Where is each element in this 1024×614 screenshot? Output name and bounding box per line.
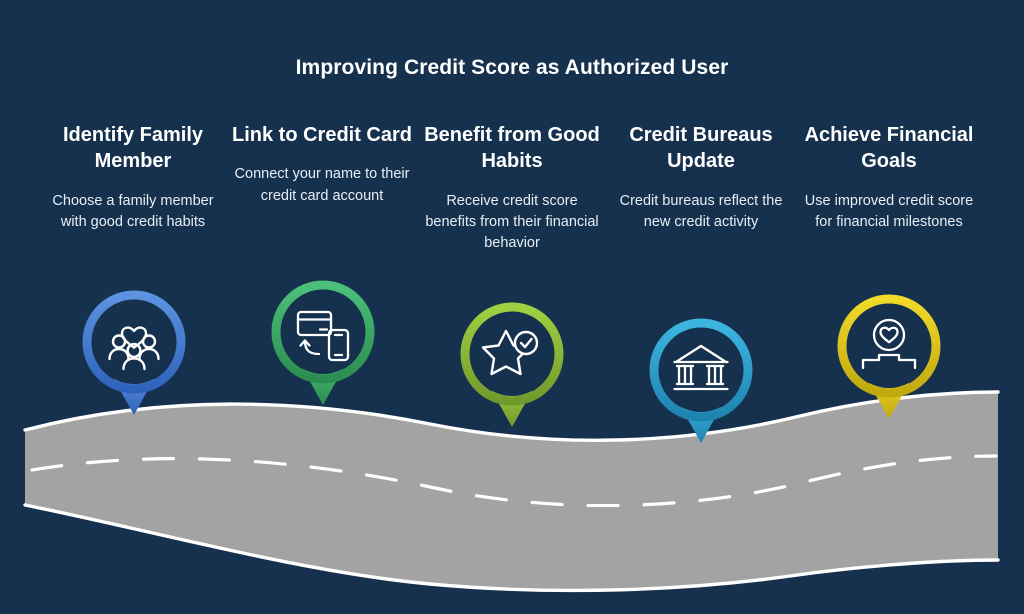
step-pin-2[interactable] (267, 276, 379, 416)
step-column-5: Achieve Financial Goals Use improved cre… (791, 122, 987, 233)
step-heading-3: Benefit from Good Habits (414, 122, 610, 175)
step-pin-5[interactable] (833, 290, 945, 430)
step-heading-1: Identify Family Member (35, 122, 231, 175)
step-column-2: Link to Credit Card Connect your name to… (224, 122, 420, 207)
step-pin-3[interactable] (456, 298, 568, 438)
step-body-1: Choose a family member with good credit … (35, 191, 231, 233)
step-column-1: Identify Family Member Choose a family m… (35, 122, 231, 233)
step-body-2: Connect your name to their credit card a… (224, 164, 420, 206)
step-column-4: Credit Bureaus Update Credit bureaus ref… (603, 122, 799, 233)
step-body-3: Receive credit score benefits from their… (414, 191, 610, 254)
step-heading-4: Credit Bureaus Update (603, 122, 799, 175)
step-body-4: Credit bureaus reflect the new credit ac… (603, 191, 799, 233)
step-pin-4[interactable] (645, 314, 757, 454)
infographic-canvas: Improving Credit Score as Authorized Use… (0, 0, 1024, 614)
step-heading-2: Link to Credit Card (224, 122, 420, 148)
step-column-3: Benefit from Good Habits Receive credit … (414, 122, 610, 254)
step-body-5: Use improved credit score for financial … (791, 191, 987, 233)
step-pin-1[interactable] (78, 286, 190, 426)
step-heading-5: Achieve Financial Goals (791, 122, 987, 175)
